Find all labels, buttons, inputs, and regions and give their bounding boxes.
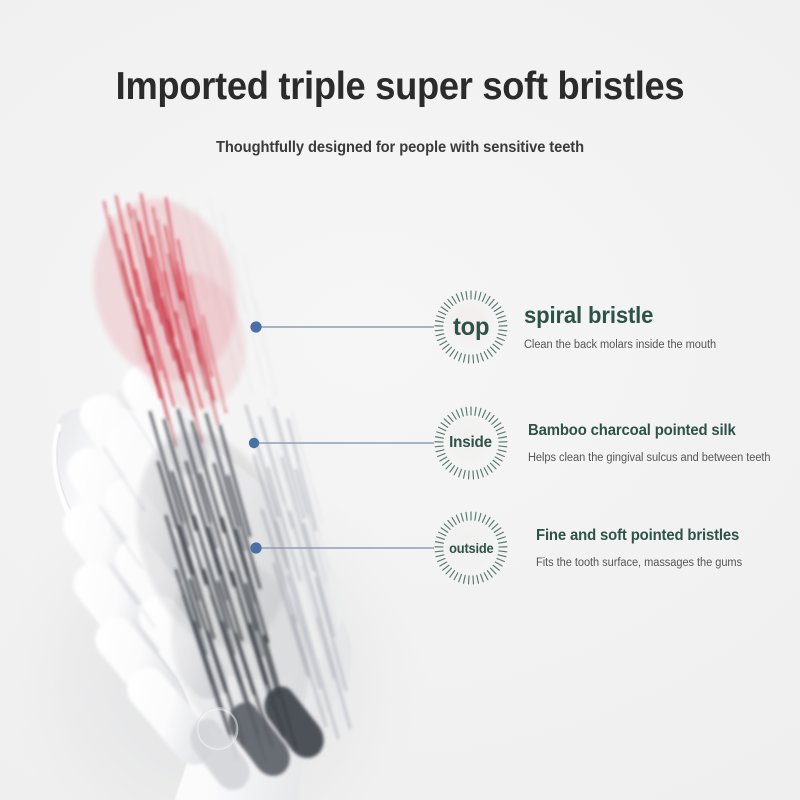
header: Imported triple super soft bristles Thou… [0, 0, 800, 158]
badge-label: outside [449, 541, 493, 556]
callout-item-outside: outside Fine and soft pointed bristles F… [432, 509, 751, 587]
callout-item-top: top spiral bristle Clean the back molars… [432, 288, 724, 366]
product-image-toothbrush [0, 150, 470, 800]
callout-text: Fine and soft pointed bristles Fits the … [524, 525, 751, 571]
badge-label: Inside [450, 434, 493, 452]
badge-label: top [453, 313, 489, 342]
page-title: Imported triple super soft bristles [28, 0, 772, 110]
callout-heading: Bamboo charcoal pointed silk [528, 421, 771, 440]
badge-outside: outside [432, 509, 510, 587]
callout-text: Bamboo charcoal pointed silk Helps clean… [524, 420, 781, 466]
badge-top: top [432, 288, 510, 366]
badge-inside: Inside [432, 404, 510, 482]
callout-text: spiral bristle Clean the back molars ins… [524, 301, 724, 353]
callout-item-inside: Inside Bamboo charcoal pointed silk Help… [432, 404, 781, 482]
callout-heading: Fine and soft pointed bristles [536, 526, 742, 545]
callout-subtext: Helps clean the gingival sulcus and betw… [528, 451, 771, 466]
product-feature-graphic: Imported triple super soft bristles Thou… [0, 0, 800, 800]
callout-subtext: Fits the tooth surface, massages the gum… [536, 556, 742, 571]
callout-heading: spiral bristle [524, 302, 716, 329]
bristle-red-bloom [75, 184, 260, 421]
callout-subtext: Clean the back molars inside the mouth [524, 338, 716, 353]
page-subtitle: Thoughtfully designed for people with se… [20, 110, 780, 158]
